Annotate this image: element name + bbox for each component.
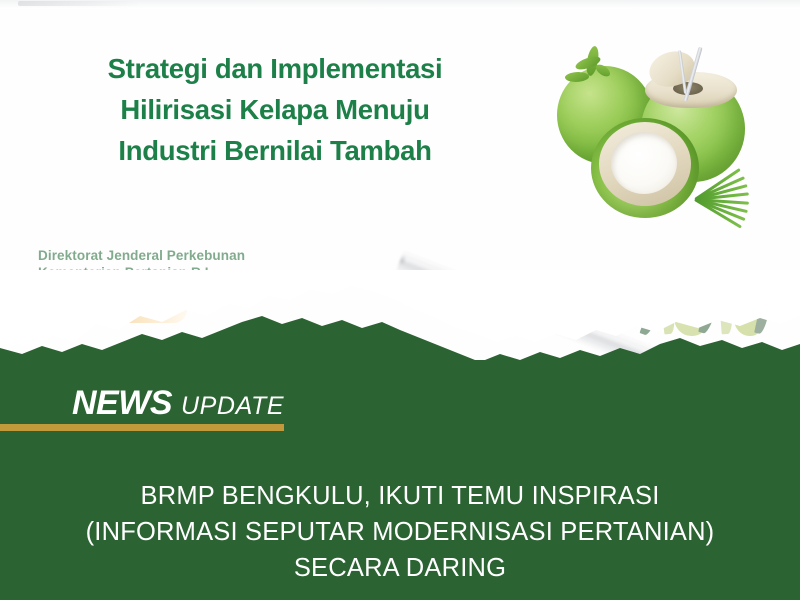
- top-edge-band: [0, 0, 800, 9]
- headline-line-1: BRMP BENGKULU, IKUTI TEMU INSPIRASI: [40, 478, 760, 514]
- update-word: UPDATE: [181, 394, 284, 419]
- news-word: NEWS: [72, 386, 172, 420]
- institution-line-1: Direktorat Jenderal Perkebunan: [38, 247, 245, 264]
- news-headline: BRMP BENGKULU, IKUTI TEMU INSPIRASI (INF…: [40, 478, 760, 586]
- coconut-sprout: [565, 46, 617, 90]
- headline-line-2: (INFORMASI SEPUTAR MODERNISASI PERTANIAN…: [40, 514, 760, 550]
- slide-title-line-3: Industri Bernilai Tambah: [40, 130, 510, 171]
- slide-title-line-2: Hilirisasi Kelapa Menuju: [40, 89, 510, 130]
- news-update-label: NEWS UPDATE: [72, 386, 284, 420]
- gold-underline-bar: [0, 424, 284, 431]
- slide-title-line-1: Strategi dan Implementasi: [40, 48, 510, 89]
- slide-title: Strategi dan Implementasi Hilirisasi Kel…: [40, 48, 510, 171]
- poster-canvas: Strategi dan Implementasi Hilirisasi Kel…: [0, 0, 800, 600]
- green-coconuts-photo: [545, 34, 780, 224]
- top-edge-mark: [18, 1, 138, 6]
- coconut-flesh: [611, 132, 677, 194]
- headline-line-3: SECARA DARING: [40, 550, 760, 586]
- palm-frond-icon: [695, 174, 775, 226]
